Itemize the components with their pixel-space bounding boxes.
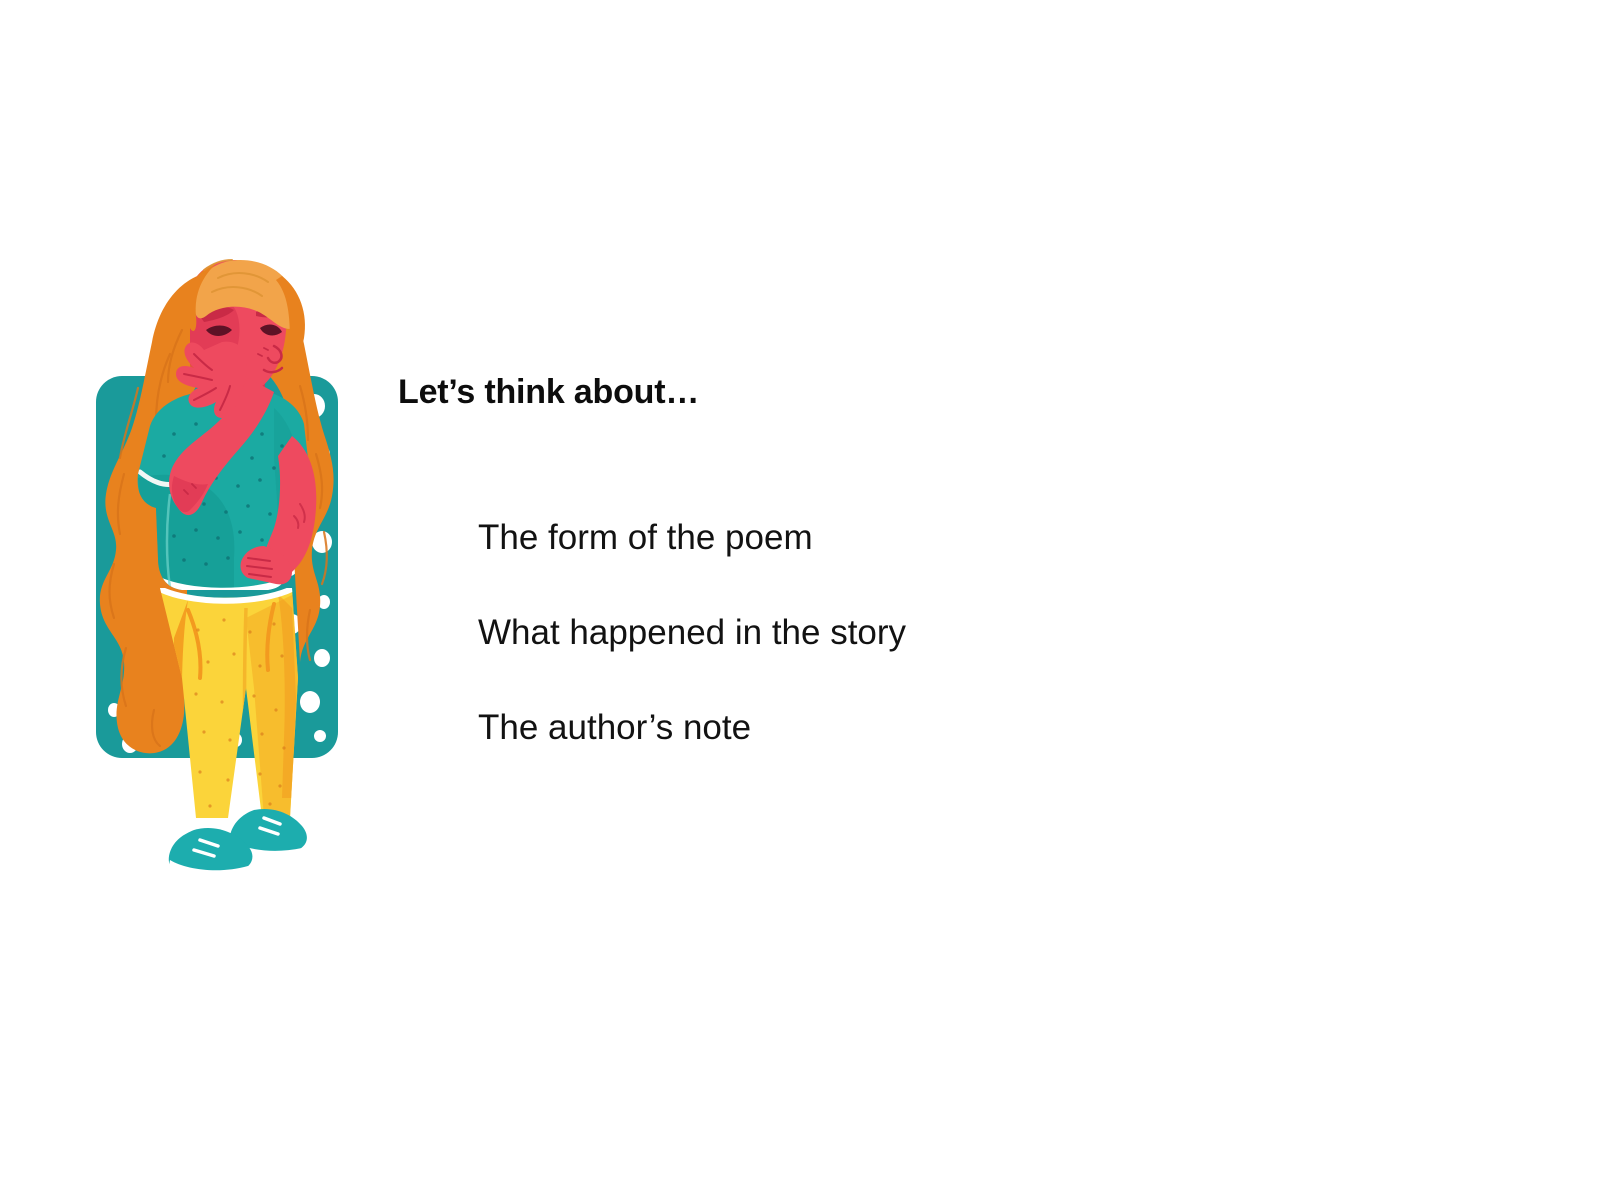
thinking-points-list: The form of the poem What happened in th… [478,520,1258,745]
page-title: Let’s think about… [398,372,1258,413]
teal-sneakers [169,809,307,878]
list-item: What happened in the story [478,615,1258,650]
list-item: The author’s note [478,710,1258,745]
thinking-woman-illustration [78,258,378,918]
slide-canvas: Let’s think about… The form of the poem … [0,0,1600,1200]
list-item: The form of the poem [478,520,1258,555]
slide-text-block: Let’s think about… The form of the poem … [398,372,1258,413]
